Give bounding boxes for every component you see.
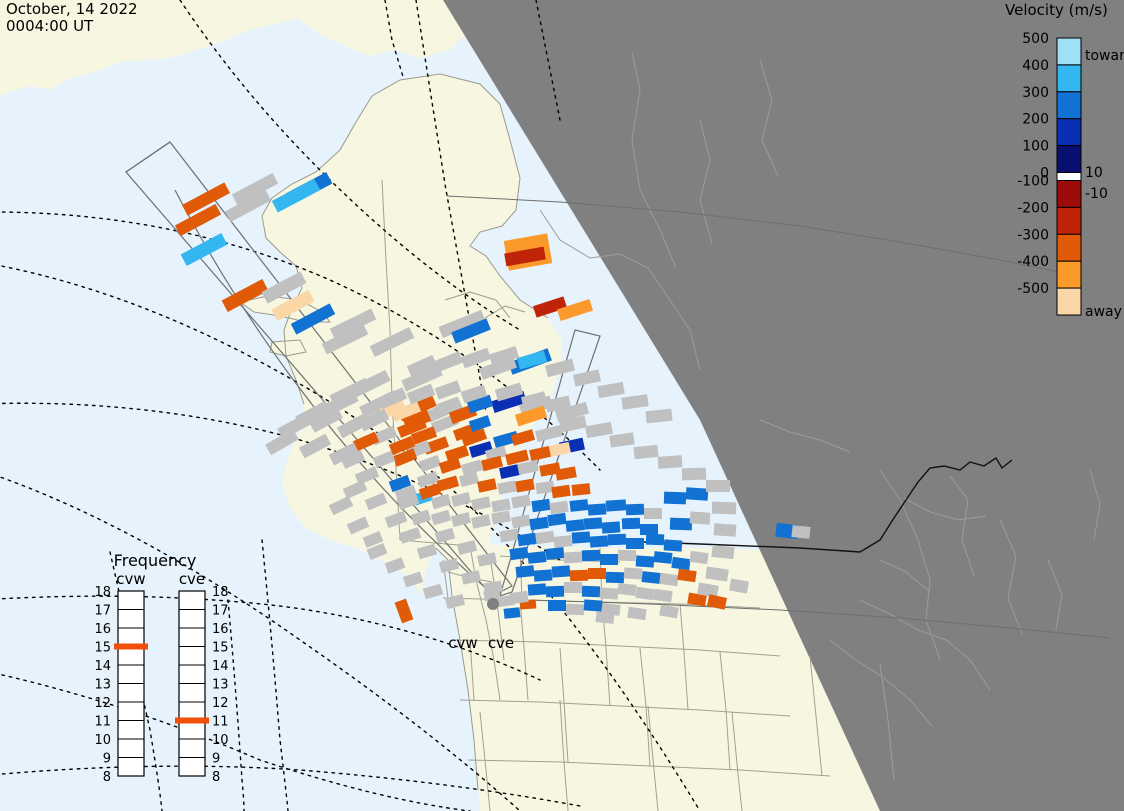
frequency-column-header-cve: cve [179,570,205,588]
radar-cell [636,555,655,567]
radar-cell [590,535,609,547]
radar-cell [617,583,636,596]
colorbar-tick-label: -400 [1017,254,1049,270]
frequency-column-header-cvw: cvw [116,570,145,588]
colorbar-band [1057,261,1081,288]
frequency-tick-label: 17 [94,604,111,619]
colorbar-center-positive-label: 10 [1085,165,1103,181]
radar-cell [582,550,600,562]
radar-cell [706,480,730,492]
radar-cell [658,455,683,469]
radar-cell [714,523,737,537]
colorbar-band [1057,119,1081,146]
radar-cell [644,508,662,519]
radar-site-label-cve: cve [488,634,514,652]
radar-cell [570,570,588,582]
radar-cell [564,582,582,593]
frequency-tick-label: 18 [94,585,111,600]
frequency-tick-label: 17 [212,604,229,619]
colorbar-tick-label: 500 [1022,31,1049,47]
radar-cell [572,531,591,543]
colorbar-band [1057,173,1081,181]
colorbar-band [1057,181,1081,208]
radar-cell [626,538,644,549]
radar-cell [711,545,734,559]
radar-cell [602,521,621,533]
frequency-tick-label: 9 [212,752,220,767]
colorbar-tick-label: 300 [1022,85,1049,101]
frequency-tick-label: 9 [103,752,111,767]
radar-cell [626,504,644,516]
frequency-tick-label: 10 [94,733,111,748]
radar-cell [548,600,566,611]
radar-cell [553,535,572,548]
frequency-tick-label: 18 [212,585,229,600]
colorbar-tick-label: -100 [1017,174,1049,190]
frequency-tick-label: 13 [94,678,111,693]
radar-cell [664,539,683,551]
radar-cell [588,503,607,515]
colorbar-band [1057,234,1081,261]
colorbar-band [1057,92,1081,119]
frequency-tick-label: 12 [212,696,229,711]
frequency-tick-label: 11 [94,715,111,730]
radar-cell [582,586,600,598]
colorbar-band [1057,146,1081,173]
radar-cell [566,604,584,616]
radar-cell [670,518,692,531]
colorbar-tick-label: -300 [1017,227,1049,243]
radar-cell [584,517,603,529]
colorbar-band [1057,288,1081,315]
radar-site-label-cvw: cvw [448,634,477,652]
radar-cell [584,599,603,611]
radar-cell [565,519,584,532]
colorbar-tick-label: -200 [1017,200,1049,216]
radar-cell [600,554,618,565]
frequency-title: Frequency [114,551,197,570]
radar-cell [571,483,590,496]
colorbar-away-label: away [1085,304,1122,320]
colorbar-tick-label: 100 [1022,139,1049,155]
radar-cell [682,468,706,481]
frequency-marker [175,718,209,724]
frequency-tick-label: 11 [212,715,229,730]
frequency-tick-label: 14 [212,659,229,674]
radar-cell [504,607,521,619]
radar-cell [606,499,627,511]
frequency-tick-label: 12 [94,696,111,711]
frequency-tick-label: 16 [212,622,229,637]
radar-cell [606,572,624,584]
timestamp-time: 0004:00 UT [6,17,94,35]
colorbar-band [1057,65,1081,92]
radar-cell [664,492,686,505]
frequency-tick-label: 8 [212,770,220,785]
radar-cell [686,487,709,501]
radar-cell [608,534,626,546]
map-canvas: cvw cve October, 14 2022 0004:00 UT Freq… [0,0,1124,811]
colorbar-band [1057,38,1081,65]
frequency-tick-label: 14 [94,659,111,674]
colorbar-band [1057,207,1081,234]
frequency-tick-label: 16 [94,622,111,637]
radar-cell [515,565,534,578]
frequency-tick-label: 15 [94,641,111,656]
radar-cell [633,445,658,459]
radar-cell [690,511,711,524]
radar-cell [624,567,643,579]
frequency-tick-label: 13 [212,678,229,693]
superdarn-fan-plot: cvw cve October, 14 2022 0004:00 UT Freq… [0,0,1124,811]
frequency-tick-label: 10 [212,733,229,748]
colorbar-swatches [1057,38,1081,315]
colorbar-tick-label: 200 [1022,112,1049,128]
radar-cell [564,551,583,563]
colorbar-tick-label: 400 [1022,58,1049,74]
radar-cell [640,524,658,535]
radar-cell [546,586,564,598]
timestamp-date: October, 14 2022 [6,0,138,18]
radar-site-marker[interactable] [487,598,499,610]
colorbar-toward-label: toward [1085,48,1124,64]
colorbar-title: Velocity (m/s) [1005,1,1108,19]
radar-cell [534,569,553,581]
frequency-marker [114,644,148,650]
radar-cell [527,551,546,564]
radar-cell [600,587,619,599]
colorbar-center-negative-label: -10 [1085,186,1108,202]
frequency-tick-label: 8 [103,770,111,785]
radar-cell [641,571,660,584]
radar-cell [618,550,636,562]
radar-cell [528,583,547,595]
radar-cell [588,568,606,579]
radar-cell [569,499,588,512]
colorbar-tick-label: -500 [1017,281,1049,297]
frequency-tick-label: 15 [212,641,229,656]
radar-cell [791,525,810,539]
radar-cell [545,547,564,560]
radar-cell [595,611,614,624]
radar-cell [646,534,664,546]
radar-cell [712,502,736,515]
radar-cell [622,518,640,530]
radar-cell [552,565,571,577]
radar-cell [653,551,672,564]
